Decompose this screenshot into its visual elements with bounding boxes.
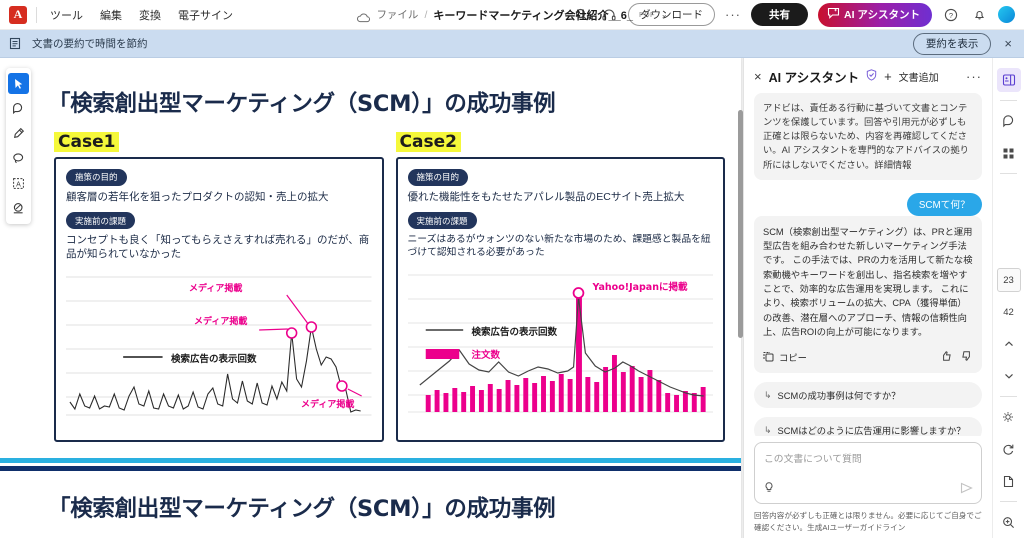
previous-page-button[interactable] <box>997 332 1021 356</box>
summary-banner: 文書の要約で時間を節約 要約を表示 × <box>0 30 1024 58</box>
breadcrumb: ファイル / キーワードマーケティング会社紹介__6_ PDF ⌄ <box>356 7 667 23</box>
ask-question-placeholder: この文書について質問 <box>764 451 972 465</box>
chevron-down-icon[interactable]: ⌄ <box>661 10 668 19</box>
case2-purpose-pill: 施策の目的 <box>408 169 469 186</box>
summary-banner-actions: 要約を表示 × <box>913 33 1016 55</box>
main-body: A 「検索創出型マーケティング（SCM）」の成功事例 Case1 施策の目的 顧… <box>0 58 1024 538</box>
suggestion-chip-2[interactable]: ↳ SCMはどのように広告運用に影響しますか？ <box>754 417 982 436</box>
shield-check-icon <box>866 69 877 84</box>
ask-question-input[interactable]: この文書について質問 <box>754 442 982 504</box>
copy-button[interactable]: コピー <box>763 351 807 366</box>
case1-label: Case1 <box>54 132 119 152</box>
rail-divider <box>1000 100 1017 101</box>
more-options-icon[interactable]: ··· <box>725 7 741 22</box>
page-thumbnail-icon[interactable] <box>997 469 1021 493</box>
assistant-message-text: SCM（検索創出型マーケティング）は、PRと運用型広告を組み合わせた新しいマーケ… <box>763 227 973 337</box>
arrow-icon: ↳ <box>764 390 772 401</box>
case1-chart: メディア掲載 メディア掲載 メディア掲載 検索広告の表示回数 <box>66 269 372 421</box>
document-title: キーワードマーケティング会社紹介__6_ <box>433 7 633 23</box>
all-tools-rail[interactable] <box>997 141 1021 165</box>
rotate-icon[interactable] <box>997 437 1021 461</box>
ai-assistant-button[interactable]: AI アシスタント <box>818 3 932 27</box>
top-toolbar: A ツール 編集 変換 電子サイン ファイル / キーワードマーケティング会社紹… <box>0 0 1024 30</box>
case2-box: 施策の目的 優れた機能性をもたせたアパレル製品のECサイト売上拡大 実施前の課題… <box>396 157 726 442</box>
svg-text:?: ? <box>949 11 953 20</box>
cloud-icon <box>356 10 370 20</box>
feedback-buttons <box>940 350 973 366</box>
arrow-icon: ↳ <box>764 425 772 436</box>
menu-item-convert[interactable]: 変換 <box>139 7 161 23</box>
ai-input-area: この文書について質問 回答内容が必ずしも正確とは限りません。必要に応じてご自身で… <box>744 436 992 538</box>
suggestion-label: SCMはどのように広告運用に影響しますか？ <box>778 423 966 436</box>
ai-panel-title: AI アシスタント <box>769 67 859 86</box>
case1-purpose-text: 顧客層の若年化を狙ったプロダクトの認知・売上の拡大 <box>66 190 372 204</box>
case1-issue-text: コンセプトも良く「知ってもらえさえすれば売れる」のだが、商品が知られていなかった <box>66 233 372 261</box>
lasso-tool[interactable] <box>8 148 29 169</box>
comment-tool[interactable] <box>8 98 29 119</box>
page-title-next: 「検索創出型マーケティング（SCM）」の成功事例 <box>0 471 741 523</box>
user-message-bubble: SCMて何？ <box>907 193 982 216</box>
page-total-label: 42 <box>997 300 1021 324</box>
case1-legend-line: 検索広告の表示回数 <box>171 351 257 365</box>
share-button[interactable]: 共有 <box>751 3 808 26</box>
suggestion-chip-1[interactable]: ↳ SCMの成功事例は何ですか？ <box>754 382 982 408</box>
ai-notice: アドビは、責任ある行動に基づいて文書とコンテンツを保護しています。回答や引用元が… <box>754 93 982 180</box>
zoom-icon[interactable] <box>997 510 1021 534</box>
text-box-tool[interactable]: A <box>8 173 29 194</box>
menu-item-tools[interactable]: ツール <box>50 7 83 23</box>
user-avatar[interactable] <box>998 6 1015 23</box>
case1-annotation-1: メディア掲載 <box>189 281 242 294</box>
acrobat-window: A ツール 編集 変換 電子サイン ファイル / キーワードマーケティング会社紹… <box>0 0 1024 538</box>
case2-issue-pill: 実施前の課題 <box>408 212 477 229</box>
case1-purpose-pill: 施策の目的 <box>66 169 127 186</box>
assistant-message-actions: コピー <box>763 350 973 366</box>
ai-assistant-rail[interactable] <box>997 68 1021 92</box>
ai-disclaimer: 回答内容が必ずしも正確とは限りません。必要に応じてご自身でご確認ください。生成A… <box>754 510 982 533</box>
show-summary-button[interactable]: 要約を表示 <box>913 33 992 55</box>
ai-assistant-button-label: AI アシスタント <box>844 7 920 22</box>
select-tool[interactable] <box>8 73 29 94</box>
document-viewer[interactable]: 「検索創出型マーケティング（SCM）」の成功事例 Case1 施策の目的 顧客層… <box>0 58 743 538</box>
rail-divider <box>1000 501 1017 502</box>
case2-annotation-1: Yahoo!Japanに掲載 <box>593 279 688 293</box>
assistant-message-bubble: SCM（検索創出型マーケティング）は、PRと運用型広告を組み合わせた新しいマーケ… <box>754 216 982 374</box>
breadcrumb-files[interactable]: ファイル <box>376 7 418 22</box>
close-icon[interactable]: × <box>1000 36 1016 51</box>
pdf-page: 「検索創出型マーケティング（SCM）」の成功事例 Case1 施策の目的 顧客層… <box>0 58 741 538</box>
case1-box: 施策の目的 顧客層の若年化を狙ったプロダクトの認知・売上の拡大 実施前の課題 コ… <box>54 157 384 442</box>
case1-annotation-3: メディア掲載 <box>301 397 354 410</box>
case1-annotation-2: メディア掲載 <box>194 314 247 327</box>
add-document-button[interactable]: 文書追加 <box>899 69 939 84</box>
case2-label: Case2 <box>396 132 461 152</box>
svg-text:A: A <box>16 181 21 188</box>
send-icon[interactable] <box>960 482 973 497</box>
right-rail: 23 42 <box>992 58 1024 538</box>
case1-issue-pill: 実施前の課題 <box>66 212 135 229</box>
thumbs-up-icon[interactable] <box>940 350 952 366</box>
menu-item-edit[interactable]: 編集 <box>100 7 122 23</box>
main-menu: ツール 編集 変換 電子サイン <box>50 7 233 23</box>
file-type-badge: PDF <box>639 10 655 19</box>
next-page-button[interactable] <box>997 364 1021 388</box>
ai-conversation[interactable]: アドビは、責任ある行動に基づいて文書とコンテンツを保護しています。回答や引用元が… <box>744 93 992 436</box>
ai-panel-header: × AI アシスタント + 文書追加 ··· <box>744 58 992 93</box>
case2-chart: Yahoo!Japanに掲載 検索広告の表示回数 注文数 <box>408 267 714 419</box>
summary-banner-text: 文書の要約で時間を節約 <box>32 36 148 51</box>
add-document-plus-icon[interactable]: + <box>884 69 892 84</box>
menu-item-esign[interactable]: 電子サイン <box>178 7 233 23</box>
case2-legend-bar: 注文数 <box>472 347 501 361</box>
highlighter-tool[interactable] <box>8 123 29 144</box>
copy-label: コピー <box>779 351 807 365</box>
bell-icon[interactable] <box>970 6 988 24</box>
page-number-field[interactable]: 23 <box>997 268 1021 292</box>
breadcrumb-separator: / <box>424 9 427 21</box>
case2-purpose-text: 優れた機能性をもたせたアパレル製品のECサイト売上拡大 <box>408 190 714 204</box>
rail-divider <box>1000 396 1017 397</box>
left-tool-rail: A <box>6 68 31 224</box>
copy-icon <box>763 351 774 366</box>
close-icon[interactable]: × <box>754 69 762 84</box>
toolbar-divider <box>36 7 37 23</box>
comment-rail[interactable] <box>997 109 1021 133</box>
acrobat-logo-icon[interactable]: A <box>9 6 27 24</box>
help-icon[interactable]: ? <box>942 6 960 24</box>
case-columns: Case1 施策の目的 顧客層の若年化を狙ったプロダクトの認知・売上の拡大 実施… <box>0 118 741 442</box>
lightbulb-icon[interactable] <box>763 481 775 497</box>
page-title: 「検索創出型マーケティング（SCM）」の成功事例 <box>0 58 741 118</box>
suggestion-label: SCMの成功事例は何ですか？ <box>778 388 901 402</box>
ai-panel-more-icon[interactable]: ··· <box>966 69 982 84</box>
case2-legend-line: 検索広告の表示回数 <box>472 324 558 338</box>
ai-assistant-panel: × AI アシスタント + 文書追加 ··· アドビは、責任ある行動に基づいて文… <box>743 58 992 538</box>
case2-issue-text: ニーズはあるがウォンツのない新たな市場のため、課題感と製品を紐づけて認知される必… <box>408 233 714 259</box>
case2-column: Case2 施策の目的 優れた機能性をもたせたアパレル製品のECサイト売上拡大 … <box>396 132 726 442</box>
case1-column: Case1 施策の目的 顧客層の若年化を狙ったプロダクトの認知・売上の拡大 実施… <box>54 132 384 442</box>
stamp-tool[interactable] <box>8 198 29 219</box>
divider-bars <box>0 458 741 471</box>
ai-sparkle-icon <box>827 7 840 23</box>
enhance-scan-icon[interactable] <box>997 405 1021 429</box>
summary-icon <box>8 36 23 51</box>
rail-divider <box>1000 173 1017 174</box>
thumbs-down-icon[interactable] <box>961 350 973 366</box>
